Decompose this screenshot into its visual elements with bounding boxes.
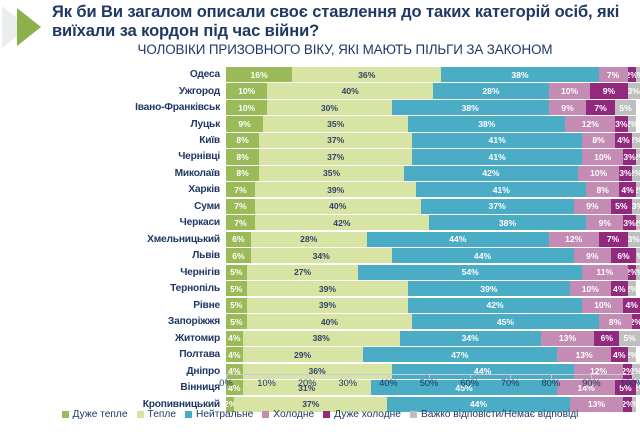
row-label-рівне: Рівне (0, 300, 226, 311)
segment-value-label: 40% (342, 86, 359, 96)
bar-segment: 4% (226, 331, 243, 346)
segment-value-label: 36% (358, 70, 375, 80)
bar-segment: 8% (582, 133, 615, 148)
segment-value-label: 10% (238, 86, 255, 96)
row-label-дніпро: Дніпро (0, 366, 226, 377)
bar-segment: 3% (619, 166, 631, 181)
chart-header: Як би Ви загалом описали своє ставлення … (0, 0, 640, 66)
segment-value-label: 8% (609, 317, 621, 327)
bar-segment: 4% (619, 182, 636, 197)
bar-segment: 10% (582, 298, 623, 313)
chart-row: Київ8%37%41%8%4%2% (0, 133, 640, 148)
bar-segment: 10% (578, 166, 619, 181)
legend-swatch-icon (410, 411, 417, 418)
segment-value-label: 2% (632, 168, 640, 178)
bar-segment: 2% (632, 314, 640, 329)
segment-value-label: 7% (594, 103, 606, 113)
legend-item[interactable]: Холодне (262, 409, 314, 420)
segment-value-label: 39% (319, 284, 336, 294)
segment-value-label: 35% (323, 168, 340, 178)
segment-value-label: 38% (462, 103, 479, 113)
row-label-київ: Київ (0, 135, 226, 146)
segment-value-label: 9% (586, 251, 598, 261)
legend-swatch-icon (62, 411, 69, 418)
bar-segment: 2% (628, 265, 636, 280)
axis-tick-label: 80% (541, 378, 560, 388)
bar-segment: 45% (412, 314, 598, 329)
play-triangle-icon (0, 2, 48, 50)
segment-value-label: 34% (313, 251, 330, 261)
bar-segment: 44% (367, 232, 549, 247)
legend-item[interactable]: Нейтральне (185, 409, 253, 420)
bar-segment: 28% (251, 232, 367, 247)
segment-value-label: 4% (228, 350, 240, 360)
bar-segment: 5% (226, 281, 247, 296)
segment-value-label: 1% (632, 399, 636, 409)
stacked-bar: 5%27%54%11%2%1% (226, 265, 640, 280)
segment-value-label: 37% (327, 135, 344, 145)
segment-value-label: 27% (294, 267, 311, 277)
segment-value-label: 3% (615, 119, 627, 129)
chart-row: Черкаси7%42%38%9%3%2% (0, 215, 640, 230)
bar-segment: 10% (570, 281, 611, 296)
stacked-bar-chart: Одеса16%36%38%7%2%1%Ужгород10%40%28%10%9… (0, 66, 640, 391)
stacked-bar: 8%37%41%10%3%2% (226, 149, 640, 164)
row-label-суми: Суми (0, 201, 226, 212)
bar-segment: 2% (632, 133, 640, 148)
bar-segment: 42% (404, 166, 578, 181)
logo-green-triangle (17, 8, 41, 46)
bar-segment: 44% (392, 248, 574, 263)
segment-value-label: 4% (228, 333, 240, 343)
row-label-ужгород: Ужгород (0, 86, 226, 97)
segment-value-label: 39% (319, 300, 336, 310)
segment-value-label: 40% (329, 201, 346, 211)
bar-segment: 7% (226, 215, 255, 230)
page-subtitle: ЧОЛОВІКИ ПРИЗОВНОГО ВІКУ, ЯКІ МАЮТЬ ПІЛЬ… (52, 42, 638, 57)
axis-tick-label: 90% (582, 378, 601, 388)
segment-value-label: 2% (628, 267, 636, 277)
stacked-bar: 8%35%42%10%3%2% (226, 166, 640, 181)
axis-tick-label: 0% (219, 378, 232, 388)
segment-value-label: 3% (623, 152, 635, 162)
segment-value-label: 39% (480, 284, 497, 294)
bar-segment: 34% (251, 248, 392, 263)
segment-value-label: 37% (489, 201, 506, 211)
segment-value-label: 47% (451, 350, 468, 360)
segment-value-label: 10% (590, 168, 607, 178)
segment-value-label: 2% (628, 70, 636, 80)
legend-label: Тепле (148, 409, 176, 420)
segment-value-label: 30% (321, 103, 338, 113)
axis-tick-label: 100% (620, 378, 640, 388)
segment-value-label: 10% (594, 300, 611, 310)
bar-segment: 12% (549, 232, 599, 247)
bar-segment: 6% (611, 248, 636, 263)
stacked-bar: 6%34%44%9%6%1% (226, 248, 640, 263)
stacked-bar: 4%38%34%13%6%5% (226, 331, 640, 346)
segment-value-label: 34% (462, 333, 479, 343)
bar-segment: 3% (623, 149, 635, 164)
row-label-одеса: Одеса (0, 69, 226, 80)
bar-segment: 10% (549, 83, 590, 98)
bar-segment: 7% (599, 67, 628, 82)
bar-segment: 8% (226, 149, 259, 164)
stacked-bar: 10%30%38%9%7%5% (226, 100, 640, 115)
stacked-bar: 6%28%44%12%7%3% (226, 232, 640, 247)
segment-value-label: 9% (603, 86, 615, 96)
legend-label: Важко відповісти/Немає відповіді (421, 409, 579, 420)
segment-value-label: 5% (615, 201, 627, 211)
chart-row: Львів6%34%44%9%6%1% (0, 248, 640, 263)
legend-label: Холодне (273, 409, 314, 420)
segment-value-label: 6% (232, 251, 244, 261)
bar-segment: 8% (226, 133, 259, 148)
segment-value-label: 6% (232, 234, 244, 244)
row-label-львів: Львів (0, 250, 226, 261)
segment-value-label: 7% (234, 218, 246, 228)
segment-value-label: 44% (449, 234, 466, 244)
segment-value-label: 2% (636, 185, 640, 195)
stacked-bar: 9%35%38%12%3%2% (226, 116, 640, 131)
stacked-bar: 5%40%45%8%2%1% (226, 314, 640, 329)
segment-value-label: 5% (230, 267, 242, 277)
segment-value-label: 13% (559, 333, 576, 343)
bar-segment: 9% (226, 116, 263, 131)
bar-segment: 38% (243, 331, 400, 346)
bar-segment: 28% (433, 83, 549, 98)
chart-row: Полтава4%29%47%13%4%2% (0, 347, 640, 362)
bar-segment: 11% (582, 265, 628, 280)
stacked-bar: 4%29%47%13%4%2% (226, 347, 640, 362)
legend-item[interactable]: Важко відповісти/Немає відповіді (410, 409, 579, 420)
bar-segment: 6% (226, 248, 251, 263)
segment-value-label: 42% (486, 300, 503, 310)
segment-value-label: 44% (474, 251, 491, 261)
bar-segment: 1% (636, 265, 640, 280)
segment-value-label: 2% (636, 218, 640, 228)
bar-segment: 39% (255, 182, 416, 197)
x-axis: 0%10%20%30%40%50%60%70%80%90%100% (226, 374, 632, 394)
segment-value-label: 3% (628, 86, 640, 96)
segment-value-label: 28% (300, 234, 317, 244)
chart-row: Чернівці8%37%41%10%3%2% (0, 149, 640, 164)
bar-segment: 5% (226, 298, 247, 313)
chart-row: Харків7%39%41%8%4%2% (0, 182, 640, 197)
bar-segment: 35% (263, 116, 408, 131)
bar-segment: 40% (267, 83, 433, 98)
segment-value-label: 5% (230, 300, 242, 310)
segment-value-label: 4% (613, 350, 625, 360)
row-label-чернігів: Чернігів (0, 267, 226, 278)
stacked-bar: 16%36%38%7%2%1% (226, 67, 640, 82)
segment-value-label: 4% (625, 300, 637, 310)
bar-segment: 3% (628, 83, 640, 98)
chart-row: Тернопіль5%39%39%10%4%2% (0, 281, 640, 296)
segment-value-label: 8% (236, 168, 248, 178)
segment-value-label: 6% (617, 251, 629, 261)
chart-row: Ужгород10%40%28%10%9%3% (0, 83, 640, 98)
bar-segment: 30% (267, 100, 391, 115)
segment-value-label: 3% (619, 168, 631, 178)
axis-tick-label: 40% (379, 378, 398, 388)
stacked-bar: 5%39%42%10%4%1% (226, 298, 640, 313)
bar-segment: 39% (247, 298, 408, 313)
bar-segment: 41% (412, 133, 582, 148)
row-label-житомир: Житомир (0, 333, 226, 344)
bar-segment: 5% (615, 100, 636, 115)
segment-value-label: 6% (601, 333, 613, 343)
row-label-вінниця: Вінниця (0, 382, 226, 393)
chart-row: Луцьк9%35%38%12%3%2% (0, 116, 640, 131)
bar-segment: 54% (358, 265, 582, 280)
bar-segment: 37% (259, 133, 412, 148)
segment-value-label: 38% (313, 333, 330, 343)
segment-value-label: 4% (617, 135, 629, 145)
segment-value-label: 37% (302, 399, 319, 409)
bar-segment: 9% (549, 100, 586, 115)
bar-segment: 37% (421, 199, 574, 214)
bar-segment: 38% (441, 67, 598, 82)
segment-value-label: 9% (238, 119, 250, 129)
bar-segment: 2% (628, 347, 636, 362)
bar-segment: 41% (412, 149, 582, 164)
bar-segment: 3% (623, 215, 635, 230)
segment-value-label: 9% (561, 103, 573, 113)
segment-value-label: 44% (470, 399, 487, 409)
bar-segment: 9% (590, 83, 627, 98)
legend-swatch-icon (262, 411, 269, 418)
segment-value-label: 4% (613, 284, 625, 294)
bar-segment: 1% (636, 248, 640, 263)
segment-value-label: 13% (588, 399, 605, 409)
legend-item[interactable]: Тепле (137, 409, 176, 420)
bar-segment: 27% (247, 265, 359, 280)
segment-value-label: 38% (511, 70, 528, 80)
bar-segment: 8% (226, 166, 259, 181)
bar-segment: 40% (247, 314, 413, 329)
stacked-bar: 7%39%41%8%4%2% (226, 182, 640, 197)
chart-legend: Дуже теплеТеплеНейтральнеХолоднеДуже хол… (0, 409, 640, 420)
bar-segment: 37% (259, 149, 412, 164)
stacked-bar: 8%37%41%8%4%2% (226, 133, 640, 148)
segment-value-label: 2% (632, 317, 640, 327)
legend-label: Дуже тепле (73, 409, 128, 420)
stacked-bar: 10%40%28%10%9%3% (226, 83, 640, 98)
bar-segment: 39% (247, 281, 408, 296)
chart-row: Чернігів5%27%54%11%2%1% (0, 265, 640, 280)
segment-value-label: 38% (478, 119, 495, 129)
row-label-миколаїв: Миколаїв (0, 168, 226, 179)
bar-segment: 47% (363, 347, 558, 362)
chart-row: Миколаїв8%35%42%10%3%2% (0, 166, 640, 181)
bar-segment: 2% (636, 182, 640, 197)
bar-segment: 7% (226, 199, 255, 214)
bar-segment: 38% (392, 100, 549, 115)
stacked-bar: 7%42%38%9%3%2% (226, 215, 640, 230)
segment-value-label: 1% (636, 251, 640, 261)
segment-value-label: 3% (628, 234, 640, 244)
segment-value-label: 38% (499, 218, 516, 228)
bar-segment: 10% (226, 100, 267, 115)
bar-segment: 42% (408, 298, 582, 313)
bar-segment: 5% (611, 199, 632, 214)
row-label-чернівці: Чернівці (0, 151, 226, 162)
legend-swatch-icon (137, 411, 144, 418)
bar-segment: 3% (615, 116, 627, 131)
segment-value-label: 42% (482, 168, 499, 178)
segment-value-label: 28% (482, 86, 499, 96)
segment-value-label: 1% (636, 70, 640, 80)
legend-item[interactable]: Дуже холодне (323, 409, 401, 420)
segment-value-label: 54% (462, 267, 479, 277)
legend-label: Дуже холодне (334, 409, 401, 420)
bar-segment: 38% (429, 215, 586, 230)
axis-tick-label: 10% (257, 378, 276, 388)
bar-segment: 38% (408, 116, 565, 131)
row-label-івано-франківськ: Івано-Франківськ (0, 102, 226, 113)
bar-segment: 41% (416, 182, 586, 197)
bar-segment: 2% (628, 281, 636, 296)
bar-segment: 5% (619, 331, 640, 346)
row-label-полтава: Полтава (0, 349, 226, 360)
bar-segment: 12% (565, 116, 615, 131)
segment-value-label: 13% (575, 350, 592, 360)
bar-segment: 39% (408, 281, 569, 296)
bar-segment: 7% (586, 100, 615, 115)
segment-value-label: 12% (565, 234, 582, 244)
legend-swatch-icon (185, 411, 192, 418)
segment-value-label: 9% (599, 218, 611, 228)
chart-row: Івано-Франківськ10%30%38%9%7%5% (0, 100, 640, 115)
bar-segment: 42% (255, 215, 429, 230)
bar-segment: 13% (541, 331, 595, 346)
bar-segment: 7% (226, 182, 255, 197)
chart-row: Запоріжжя5%40%45%8%2%1% (0, 314, 640, 329)
segment-value-label: 7% (607, 70, 619, 80)
segment-value-label: 8% (597, 185, 609, 195)
bar-segment: 1% (636, 67, 640, 82)
bar-segment: 2% (636, 215, 640, 230)
bar-segment: 6% (594, 331, 619, 346)
axis-tick-label: 50% (420, 378, 439, 388)
bar-segment: 6% (226, 232, 251, 247)
bar-segment: 4% (611, 347, 628, 362)
bar-segment: 4% (611, 281, 628, 296)
bar-segment: 2% (628, 116, 636, 131)
segment-value-label: 41% (489, 152, 506, 162)
bar-segment: 5% (226, 265, 247, 280)
bar-segment: 5% (226, 314, 247, 329)
segment-value-label: 2% (623, 399, 631, 409)
segment-value-label: 3% (623, 218, 635, 228)
chart-row: Хмельницький6%28%44%12%7%3% (0, 232, 640, 247)
segment-value-label: 40% (321, 317, 338, 327)
segment-value-label: 41% (493, 185, 510, 195)
bar-segment: 16% (226, 67, 292, 82)
segment-value-label: 5% (230, 317, 242, 327)
segment-value-label: 10% (594, 152, 611, 162)
segment-value-label: 5% (230, 284, 242, 294)
stacked-bar: 5%39%39%10%4%2% (226, 281, 640, 296)
bar-segment: 10% (582, 149, 623, 164)
row-label-тернопіль: Тернопіль (0, 283, 226, 294)
segment-value-label: 45% (497, 317, 514, 327)
chart-rows: Одеса16%36%38%7%2%1%Ужгород10%40%28%10%9… (0, 67, 640, 413)
stacked-bar: 7%40%37%9%5%3% (226, 199, 640, 214)
bar-segment: 8% (586, 182, 619, 197)
segment-value-label: 35% (327, 119, 344, 129)
bar-segment: 36% (292, 67, 441, 82)
row-label-хмельницький: Хмельницький (0, 234, 226, 245)
bar-segment: 4% (623, 298, 640, 313)
segment-value-label: 7% (234, 201, 246, 211)
bar-segment: 29% (243, 347, 363, 362)
row-label-луцьк: Луцьк (0, 119, 226, 130)
axis-tick-label: 20% (298, 378, 317, 388)
bar-segment: 3% (628, 232, 640, 247)
bar-segment: 8% (599, 314, 632, 329)
bar-segment: 9% (574, 199, 611, 214)
segment-value-label: 5% (623, 333, 635, 343)
page-title: Як би Ви загалом описали своє ставлення … (52, 3, 630, 41)
segment-value-label: 8% (592, 135, 604, 145)
row-label-черкаси: Черкаси (0, 217, 226, 228)
segment-value-label: 2% (636, 152, 640, 162)
segment-value-label: 9% (586, 201, 598, 211)
bar-segment: 10% (226, 83, 267, 98)
segment-value-label: 16% (251, 70, 268, 80)
bar-segment: 4% (615, 133, 632, 148)
segment-value-label: 3% (632, 201, 640, 211)
bar-segment: 2% (632, 166, 640, 181)
segment-value-label: 7% (234, 185, 246, 195)
bar-segment: 34% (400, 331, 541, 346)
segment-value-label: 10% (561, 86, 578, 96)
chart-row: Одеса16%36%38%7%2%1% (0, 67, 640, 82)
segment-value-label: 4% (621, 185, 633, 195)
row-label-харків: Харків (0, 184, 226, 195)
segment-value-label: 41% (489, 135, 506, 145)
bar-segment: 2% (628, 67, 636, 82)
segment-value-label: 2% (226, 399, 234, 409)
chart-row: Суми7%40%37%9%5%3% (0, 199, 640, 214)
segment-value-label: 5% (619, 103, 631, 113)
segment-value-label: 8% (236, 152, 248, 162)
chart-row: Житомир4%38%34%13%6%5% (0, 331, 640, 346)
bar-segment: 9% (586, 215, 623, 230)
segment-value-label: 37% (327, 152, 344, 162)
bar-segment: 4% (226, 347, 243, 362)
axis-tick-label: 30% (338, 378, 357, 388)
segment-value-label: 2% (632, 135, 640, 145)
bar-segment: 3% (632, 199, 640, 214)
axis-tick-label: 70% (501, 378, 520, 388)
segment-value-label: 1% (636, 267, 640, 277)
segment-value-label: 10% (582, 284, 599, 294)
segment-value-label: 2% (628, 350, 636, 360)
bar-segment: 13% (557, 347, 611, 362)
segment-value-label: 42% (333, 218, 350, 228)
legend-item[interactable]: Дуже тепле (62, 409, 128, 420)
bar-segment: 2% (636, 149, 640, 164)
segment-value-label: 10% (238, 103, 255, 113)
bar-segment: 40% (255, 199, 421, 214)
segment-value-label: 11% (596, 267, 613, 277)
segment-value-label: 8% (236, 135, 248, 145)
bar-segment: 7% (599, 232, 628, 247)
chart-row: Рівне5%39%42%10%4%1% (0, 298, 640, 313)
